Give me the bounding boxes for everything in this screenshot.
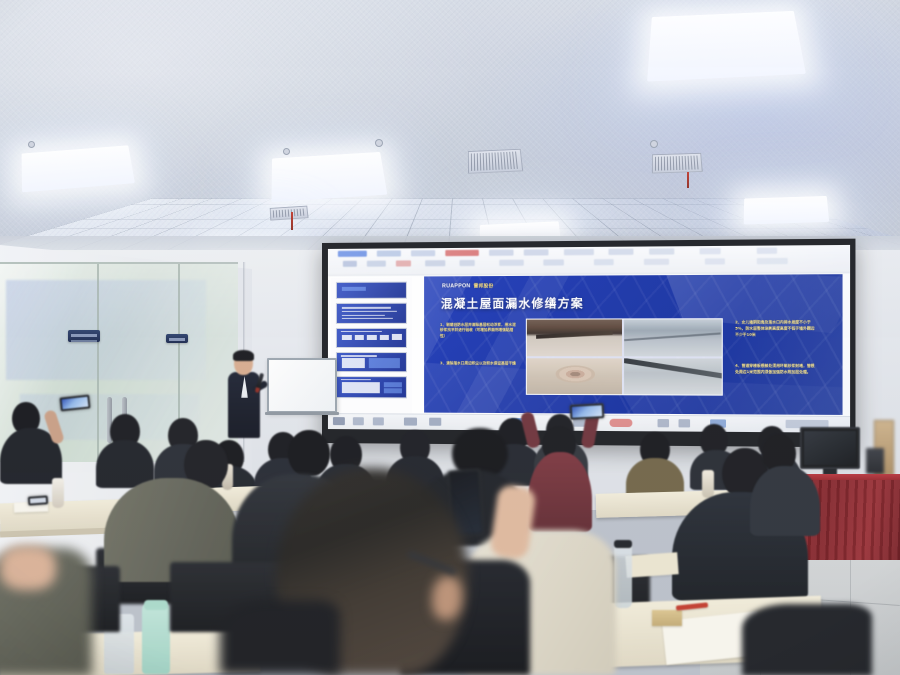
small-box: [652, 610, 682, 626]
taskbar-icon[interactable]: [353, 417, 364, 425]
slide-text-block-2: 2、女儿墙阴阳角及落水口内排水坡度不小于5%，防水层整体涂刷高度高度不低于墙外翻…: [735, 321, 816, 338]
sprinkler-head: [687, 172, 689, 188]
slide-photo-grid: [526, 318, 723, 396]
ribbon-tab-design[interactable]: [445, 250, 479, 256]
phone-screen: [62, 397, 89, 410]
current-slide[interactable]: RUAPPON 雷邦股份 混凝土屋面漏水修缮方案 1、剔凿旧防水层并清除基层松动…: [424, 274, 843, 415]
whiteboard: [267, 358, 337, 413]
smoke-detector: [283, 148, 290, 155]
taskbar-icon[interactable]: [429, 418, 441, 426]
ribbon-icon[interactable]: [499, 259, 524, 265]
glass-mullion: [97, 264, 99, 462]
speaker-box: [866, 448, 884, 474]
slide-photo-3: [527, 358, 622, 395]
presenter-hair: [233, 350, 254, 361]
door-sign: [166, 334, 188, 343]
block-text: 管道穿楼板根部处须用环氧砂浆封堵，管根处周边1米范围内须做加强防水附加层处理。: [735, 364, 814, 374]
slide-title: 混凝土屋面漏水修缮方案: [441, 295, 584, 312]
slide-text-block-4: 4、管道穿楼板根部处须用环氧砂浆封堵，管根处周边1米范围内须做加强防水附加层处理…: [735, 364, 816, 376]
slide-text-block-1: 1、剔凿旧防水层并清除基层松动浮浆，用水泥砂浆找平并进行验收（可增加界面剂增强粘…: [440, 322, 518, 339]
control-desk-monitor: [800, 427, 860, 469]
thermos-flask: [702, 470, 714, 498]
ribbon-icon[interactable]: [756, 258, 787, 265]
ribbon-tab-transitions[interactable]: [489, 250, 514, 256]
taskbar-icon[interactable]: [373, 417, 384, 425]
glass-water-bottle: [614, 544, 632, 608]
air-vent: [468, 149, 523, 174]
phone-screen: [572, 405, 603, 418]
slide-photo-1: [527, 319, 622, 356]
ribbon-tab-home[interactable]: [377, 250, 401, 256]
whiteboard-tray: [265, 412, 339, 415]
ribbon-tab-file[interactable]: [338, 251, 367, 257]
block-text: 剔凿旧防水层并清除基层松动浮浆，用水泥砂浆找平并进行验收（可增加界面剂增强粘结性…: [440, 322, 516, 337]
slide-thumbnail[interactable]: [336, 281, 407, 299]
attendee-body: [528, 452, 592, 532]
ribbon-icon[interactable]: [460, 260, 475, 266]
ribbon-icon[interactable]: [705, 258, 725, 265]
ribbon-tab-review[interactable]: [609, 249, 634, 255]
foreground-attendee-shoulder: [220, 600, 340, 675]
air-vent: [652, 153, 703, 174]
bottle-cap: [614, 540, 632, 548]
smoke-detector: [28, 141, 35, 148]
ribbon-icon[interactable]: [343, 260, 357, 266]
slide-thumbnail[interactable]: [336, 376, 407, 398]
foreground-attendee-ear: [432, 576, 462, 620]
ribbon-tab-slideshow[interactable]: [564, 249, 594, 255]
block-number: 3: [440, 361, 443, 365]
ribbon-icon[interactable]: [396, 260, 411, 266]
ribbon-tab-help[interactable]: [700, 248, 720, 254]
smoke-detector: [650, 140, 658, 148]
ribbon-tab-row[interactable]: [338, 247, 839, 256]
taskbar-icon-record[interactable]: [610, 419, 633, 428]
thermos-flask: [52, 478, 64, 508]
ribbon-icon[interactable]: [367, 260, 386, 266]
paper-sheet: [625, 552, 678, 578]
slide-thumbnail-pane[interactable]: [331, 277, 412, 413]
led-panel-light: [647, 11, 806, 82]
led-panel-light: [22, 145, 135, 192]
taskbar-icon[interactable]: [404, 418, 417, 426]
ribbon-tab-overflow[interactable]: [756, 248, 777, 254]
block-text: 清除落水口周边积尘以及积水保证基层干燥: [446, 361, 516, 365]
ceiling: [0, 0, 900, 268]
block-number: 2: [735, 321, 738, 325]
slide-thumbnail[interactable]: [336, 328, 407, 348]
attendee-head: [288, 430, 330, 476]
sprinkler-head: [291, 212, 293, 230]
slide-brand-logo: RUAPPON 雷邦股份: [442, 283, 493, 289]
ribbon-tab-view[interactable]: [649, 248, 674, 254]
conference-room-photo: RUAPPON 雷邦股份 混凝土屋面漏水修缮方案 1、剔凿旧防水层并清除基层松动…: [0, 0, 900, 675]
foreground-attendee-shoulder: [742, 604, 872, 675]
slide-thumbnail[interactable]: [336, 352, 407, 372]
foreground-attendee-hands: [0, 546, 56, 590]
logo-suffix-text: 雷邦股份: [474, 283, 494, 289]
slide-photo-4: [624, 358, 721, 395]
taskbar-icon[interactable]: [678, 419, 690, 428]
ribbon-icon[interactable]: [594, 259, 614, 266]
thermos-flask: [142, 604, 170, 674]
block-number: 1: [440, 323, 443, 327]
smoke-detector: [375, 139, 383, 147]
led-panel-light: [272, 152, 388, 202]
attendee-body: [750, 466, 820, 536]
smartphone: [570, 403, 605, 420]
ribbon-icon[interactable]: [544, 259, 564, 265]
slide-text-block-3: 3、清除落水口周边积尘以及积水保证基层干燥: [440, 361, 518, 367]
thermos-cap: [144, 600, 168, 610]
glass-reflection: [6, 280, 206, 380]
taskbar-start-icon[interactable]: [333, 417, 345, 425]
ribbon-icon[interactable]: [425, 260, 445, 266]
ribbon-icon[interactable]: [644, 258, 669, 265]
ribbon-tab-animations[interactable]: [524, 249, 549, 255]
logo-brand-text: RUAPPON: [442, 283, 470, 289]
door-sign: [68, 330, 100, 342]
led-panel-light: [744, 196, 829, 225]
block-number: 4: [735, 364, 738, 368]
ribbon-tab-insert[interactable]: [411, 250, 435, 256]
ribbon-icon-row[interactable]: [338, 256, 839, 267]
smartphone: [28, 495, 49, 505]
taskbar-icon[interactable]: [657, 419, 669, 427]
block-text: 女儿墙阴阳角及落水口内排水坡度不小于5%，防水层整体涂刷高度高度不低于墙外翻边不…: [735, 321, 814, 337]
app-ribbon[interactable]: [328, 245, 850, 276]
slide-thumbnail[interactable]: [336, 303, 407, 324]
phone-screen: [30, 497, 46, 503]
air-vent: [270, 206, 309, 221]
slide-photo-2: [624, 319, 721, 356]
